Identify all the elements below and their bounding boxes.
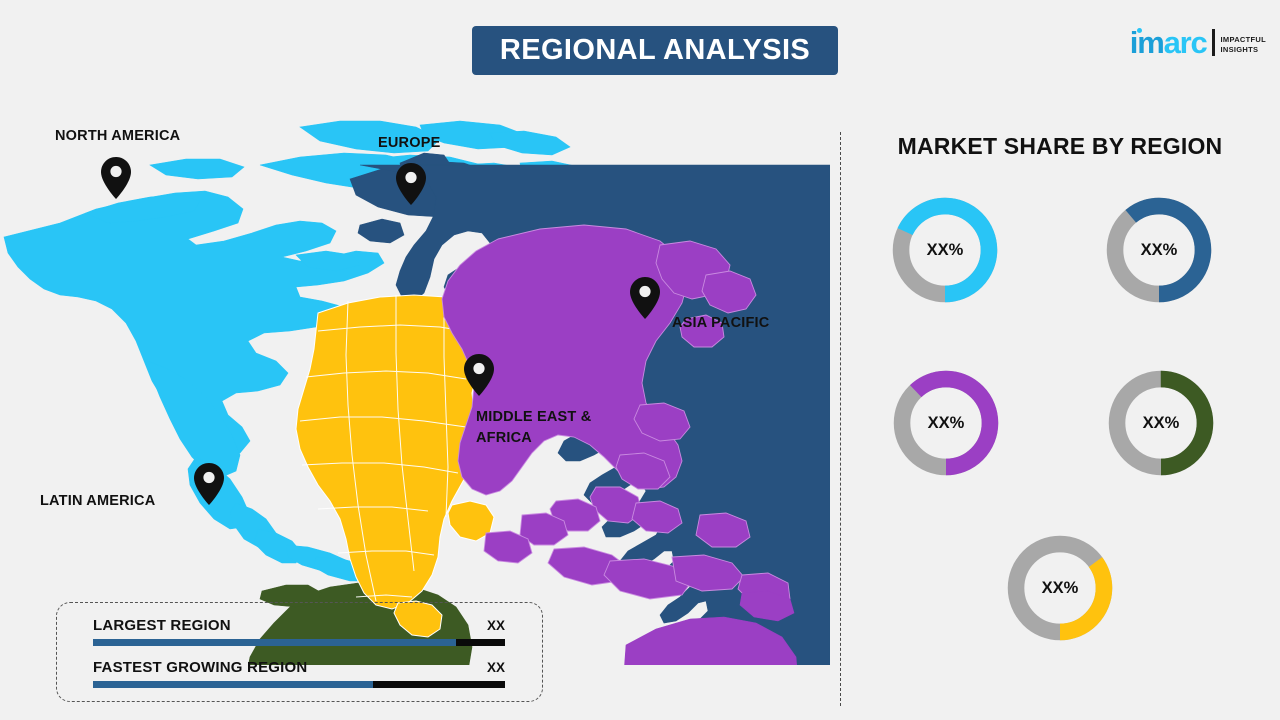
map-label-europe: EUROPE xyxy=(378,133,440,154)
map-label-latin-america: LATIN AMERICA xyxy=(40,491,155,512)
legend-bar-fill-largest-region xyxy=(93,639,456,646)
legend-value-fastest-growing-region: XX xyxy=(487,660,505,675)
imarc-logo: imarc IMPACTFUL INSIGHTS xyxy=(1130,18,1266,58)
legend-row-largest-region: LARGEST REGION XX xyxy=(93,617,505,646)
page-title-banner: REGIONAL ANALYSIS xyxy=(472,26,838,75)
legend-bar-largest-region xyxy=(93,639,505,646)
logo-tagline: IMPACTFUL INSIGHTS xyxy=(1221,35,1266,55)
donut-label-asia-pacific: XX% xyxy=(888,365,1004,481)
donut-label-europe: XX% xyxy=(1101,192,1217,308)
donut-chart-latin-america: XX% xyxy=(1103,365,1219,481)
map-pin-asia-pacific[interactable] xyxy=(630,277,660,319)
legend-label-largest-region: LARGEST REGION xyxy=(93,617,231,634)
logo-tagline-line2: INSIGHTS xyxy=(1221,45,1266,55)
donut-chart-middle-east-africa: XX% xyxy=(1002,530,1118,646)
legend-label-fastest-growing-region: FASTEST GROWING REGION xyxy=(93,659,307,676)
legend-bar-fastest-growing-region xyxy=(93,681,505,688)
donut-label-north-america: XX% xyxy=(887,192,1003,308)
page-title: REGIONAL ANALYSIS xyxy=(500,34,810,67)
map-pin-north-america[interactable] xyxy=(101,157,131,199)
map-label-asia-pacific: ASIA PACIFIC xyxy=(672,313,769,334)
legend-row-fastest-growing-region: FASTEST GROWING REGION XX xyxy=(93,659,505,688)
logo-divider xyxy=(1212,29,1215,56)
map-label-middle-east-africa: MIDDLE EAST & AFRICA xyxy=(476,407,591,449)
map-pin-latin-america[interactable] xyxy=(194,463,224,505)
market-share-title: MARKET SHARE BY REGION xyxy=(860,133,1260,160)
logo-tagline-line1: IMPACTFUL xyxy=(1221,35,1266,45)
donut-label-latin-america: XX% xyxy=(1103,365,1219,481)
logo-word-part1: im xyxy=(1130,25,1164,60)
legend-bar-fill-fastest-growing-region xyxy=(93,681,373,688)
logo-dot-icon xyxy=(1137,28,1142,33)
region-summary-box: LARGEST REGION XX FASTEST GROWING REGION… xyxy=(56,602,543,702)
panel-divider xyxy=(840,132,841,706)
infographic-root: REGIONAL ANALYSIS imarc IMPACTFUL INSIGH… xyxy=(0,0,1280,720)
donut-label-middle-east-africa: XX% xyxy=(1002,530,1118,646)
donut-chart-asia-pacific: XX% xyxy=(888,365,1004,481)
map-label-north-america: NORTH AMERICA xyxy=(55,126,180,147)
map-pin-europe[interactable] xyxy=(396,163,426,205)
donut-chart-north-america: XX% xyxy=(887,192,1003,308)
world-map xyxy=(0,105,830,665)
donut-chart-europe: XX% xyxy=(1101,192,1217,308)
map-pin-middle-east-africa[interactable] xyxy=(464,354,494,396)
logo-word-part2: arc xyxy=(1164,25,1207,60)
legend-value-largest-region: XX xyxy=(487,618,505,633)
